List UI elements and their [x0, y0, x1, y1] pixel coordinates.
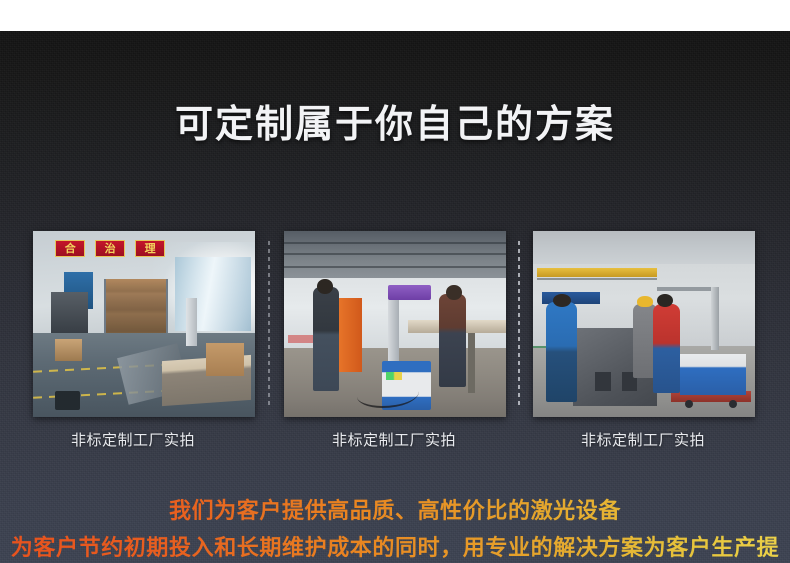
gallery-item-3[interactable]: [533, 231, 755, 417]
photo1-column: [186, 298, 197, 346]
photo2-worker-right-head: [446, 285, 462, 300]
photo3-worker-red: [653, 304, 680, 393]
caption-photo-2: 非标定制工厂实拍: [294, 429, 494, 451]
caption-photo-1: 非标定制工厂实拍: [33, 429, 233, 451]
photo3-crane-rail: [537, 278, 657, 281]
photo1-carton-box: [206, 343, 244, 376]
photo2-roof-beam-3: [284, 266, 506, 268]
photo1-slogan-banner-3: 理: [135, 240, 165, 257]
promo-banner-page: 可定制属于你自己的方案 合 治 理: [0, 0, 790, 563]
photo2-worker-left: [313, 287, 340, 391]
photo-gallery: 合 治 理: [0, 231, 790, 417]
photo2-roof-beam-1: [284, 242, 506, 244]
photo3-lift-mast: [711, 287, 720, 350]
photo3-worker-blue: [546, 302, 577, 402]
photo3-worker-blue-head: [553, 294, 571, 307]
photo3-roof: [533, 231, 755, 268]
photo2-roof: [284, 231, 506, 281]
photo3-safety-helmet: [637, 296, 653, 307]
factory-photo-3: [533, 231, 755, 417]
dark-banner-background: 可定制属于你自己的方案 合 治 理: [0, 31, 790, 563]
photo1-slogan-banner-1: 合: [55, 240, 85, 257]
gallery-item-1[interactable]: 合 治 理: [33, 231, 255, 417]
photo1-machine: [51, 292, 89, 333]
factory-photo-2: [284, 231, 506, 417]
photo2-cabinet-indicator: [386, 372, 402, 379]
photo2-orange-frame: [337, 298, 361, 372]
photo3-cart-wheel-2: [685, 400, 693, 408]
photo3-overhead-crane: [537, 268, 657, 276]
photo3-mobile-laser-unit: [680, 354, 747, 395]
gallery-divider-1: [268, 241, 270, 407]
gallery-divider-2: [518, 241, 520, 407]
photo1-pallet: [55, 339, 82, 361]
caption-row: 非标定制工厂实拍 非标定制工厂实拍 非标定制工厂实拍: [0, 429, 790, 453]
photo2-roof-beam-2: [284, 253, 506, 255]
factory-photo-1: 合 治 理: [33, 231, 255, 417]
slogan-line-2: 为客户节约初期投入和长期维护成本的同时，用专业的解决方案为客户生产提速: [0, 534, 790, 563]
photo3-cart-wheel-1: [729, 400, 737, 408]
photo2-worker-right: [439, 294, 466, 387]
photo1-slogan-banner-2: 治: [95, 240, 125, 257]
slogan-line-1: 我们为客户提供高品质、高性价比的激光设备: [0, 497, 790, 527]
gallery-item-2[interactable]: [284, 231, 506, 417]
page-title: 可定制属于你自己的方案: [0, 101, 790, 147]
photo2-worker-left-head: [317, 279, 333, 294]
caption-photo-3: 非标定制工厂实拍: [543, 429, 743, 451]
photo1-toolbox: [55, 391, 79, 410]
photo3-casting-hole-1: [595, 372, 611, 391]
photo2-table-leg: [468, 333, 475, 393]
photo2-laser-head: [388, 285, 430, 300]
